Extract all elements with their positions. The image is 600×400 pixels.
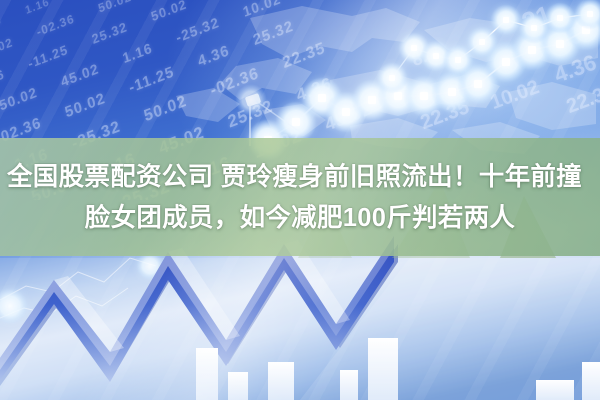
banner-image: -02.3650.02-25.321.1645.024.361.16-11.25… bbox=[0, 0, 600, 400]
headline-line-2: 脸女团成员，如今减肥100斤判若两人 bbox=[0, 198, 600, 239]
headline-block: 全国股票配资公司 贾玲瘦身前旧照流出！十年前撞 脸女团成员，如今减肥100斤判若… bbox=[0, 150, 600, 246]
headline-line-1: 全国股票配资公司 贾玲瘦身前旧照流出！十年前撞 bbox=[0, 157, 600, 198]
